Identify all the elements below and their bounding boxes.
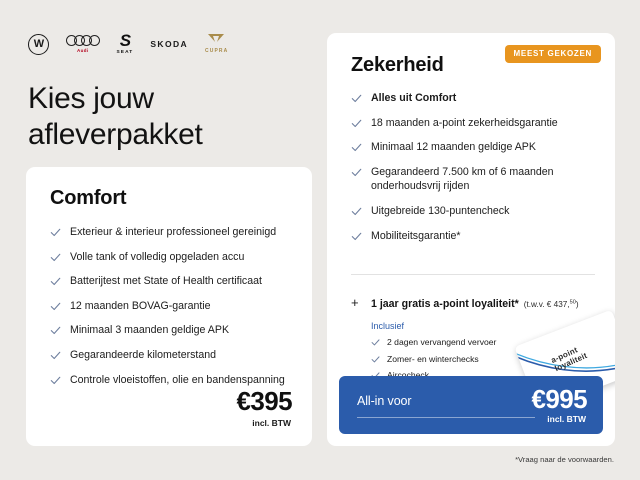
list-item-label: Minimaal 3 maanden geldige APK (70, 323, 229, 338)
check-icon (50, 252, 61, 263)
inclusief-title: Inclusief (371, 321, 546, 331)
check-icon (371, 338, 380, 347)
brand-logo-volkswagen: W (28, 34, 49, 55)
zekerheid-price-footer: All-in voor €995 incl. BTW (339, 376, 603, 434)
list-item-label: Volle tank of volledig opgeladen accu (70, 250, 244, 265)
list-item: Uitgebreide 130-puntencheck (351, 204, 601, 219)
zekerheid-title: Zekerheid (351, 54, 444, 77)
package-card-comfort[interactable]: Comfort Exterieur & interieur profession… (26, 167, 312, 446)
check-icon (371, 355, 380, 364)
audi-rings-icon (66, 35, 100, 46)
vw-logo-icon: W (28, 34, 49, 55)
list-item-label: Mobiliteitsgarantie* (371, 229, 461, 244)
list-item: Mobiliteitsgarantie* (351, 229, 601, 244)
check-icon (351, 93, 362, 104)
list-item-label: Gegarandeerd 7.500 km of 6 maanden onder… (371, 165, 601, 194)
list-item: Alles uit Comfort (351, 91, 601, 106)
check-icon (50, 276, 61, 287)
list-item-label: Alles uit Comfort (371, 91, 456, 106)
list-item-label: Gegarandeerde kilometerstand (70, 348, 216, 363)
zekerheid-price-note: incl. BTW (547, 414, 586, 424)
check-icon (351, 167, 362, 178)
list-item-label: Exterieur & interieur professioneel gere… (70, 225, 276, 240)
brand-logo-audi: Audi (66, 35, 100, 53)
skoda-wordmark: SKODA (150, 39, 188, 49)
check-icon (50, 375, 61, 386)
list-item: 18 maanden a-point zekerheidsgarantie (351, 116, 601, 131)
list-item-label: Minimaal 12 maanden geldige APK (371, 140, 536, 155)
audi-wordmark: Audi (77, 48, 89, 53)
plus-icon: + (351, 296, 362, 309)
page-title: Kies jouw afleverpakket (28, 81, 308, 154)
cupra-logo-icon (208, 34, 225, 48)
section-divider (351, 274, 595, 275)
list-item-label: Uitgebreide 130-puntencheck (371, 204, 509, 219)
brand-logo-bar: W Audi S SEAT SKODA CUPRA (28, 31, 228, 57)
check-icon (50, 325, 61, 336)
list-item-label: 12 maanden BOVAG-garantie (70, 299, 211, 314)
list-item: Volle tank of volledig opgeladen accu (50, 250, 298, 265)
zekerheid-price: €995 (532, 386, 587, 412)
comfort-title: Comfort (50, 187, 126, 210)
footnote: *Vraag naar de voorwaarden. (515, 455, 614, 464)
loyalty-highlight-row: + 1 jaar gratis a-point loyaliteit*(t.w.… (351, 294, 607, 312)
status-badge-most-chosen: MEEST GEKOZEN (505, 45, 601, 63)
check-icon (351, 118, 362, 129)
list-item-label: Batterijtest met State of Health certifi… (70, 274, 262, 289)
check-icon (50, 227, 61, 238)
list-item-label: Zomer- en winterchecks (387, 354, 479, 365)
list-item-label: 18 maanden a-point zekerheidsgarantie (371, 116, 558, 131)
list-item: Batterijtest met State of Health certifi… (50, 274, 298, 289)
allin-label: All-in voor (357, 394, 411, 408)
list-item: 12 maanden BOVAG-garantie (50, 299, 298, 314)
check-icon (50, 301, 61, 312)
zekerheid-feature-list: Alles uit Comfort 18 maanden a-point zek… (351, 91, 601, 243)
comfort-price-note: incl. BTW (252, 418, 291, 428)
loyalty-highlight-label: 1 jaar gratis a-point loyaliteit* (371, 298, 519, 310)
brand-logo-cupra: CUPRA (205, 34, 228, 55)
comfort-price: €395 (237, 388, 292, 414)
list-item-label: 2 dagen vervangend vervoer (387, 337, 496, 348)
footer-divider (357, 417, 535, 418)
list-item: Gegarandeerde kilometerstand (50, 348, 298, 363)
brand-logo-seat: S SEAT (117, 33, 134, 54)
seat-logo-icon: S (120, 33, 130, 48)
list-item: Minimaal 3 maanden geldige APK (50, 323, 298, 338)
check-icon (351, 231, 362, 242)
delivery-package-page: W Audi S SEAT SKODA CUPRA Kies jouw afle… (0, 0, 640, 480)
list-item: Minimaal 12 maanden geldige APK (351, 140, 601, 155)
check-icon (351, 206, 362, 217)
comfort-feature-list: Exterieur & interieur professioneel gere… (50, 225, 298, 387)
list-item: Exterieur & interieur professioneel gere… (50, 225, 298, 240)
package-card-zekerheid[interactable]: Zekerheid MEEST GEKOZEN Alles uit Comfor… (327, 33, 615, 446)
check-icon (50, 350, 61, 361)
seat-wordmark: SEAT (117, 50, 134, 55)
list-item: Gegarandeerd 7.500 km of 6 maanden onder… (351, 165, 601, 194)
cupra-wordmark: CUPRA (205, 48, 228, 54)
loyalty-value-note: (t.w.v. € 437,50) (524, 300, 579, 309)
brand-logo-skoda: SKODA (150, 39, 188, 49)
check-icon (351, 142, 362, 153)
